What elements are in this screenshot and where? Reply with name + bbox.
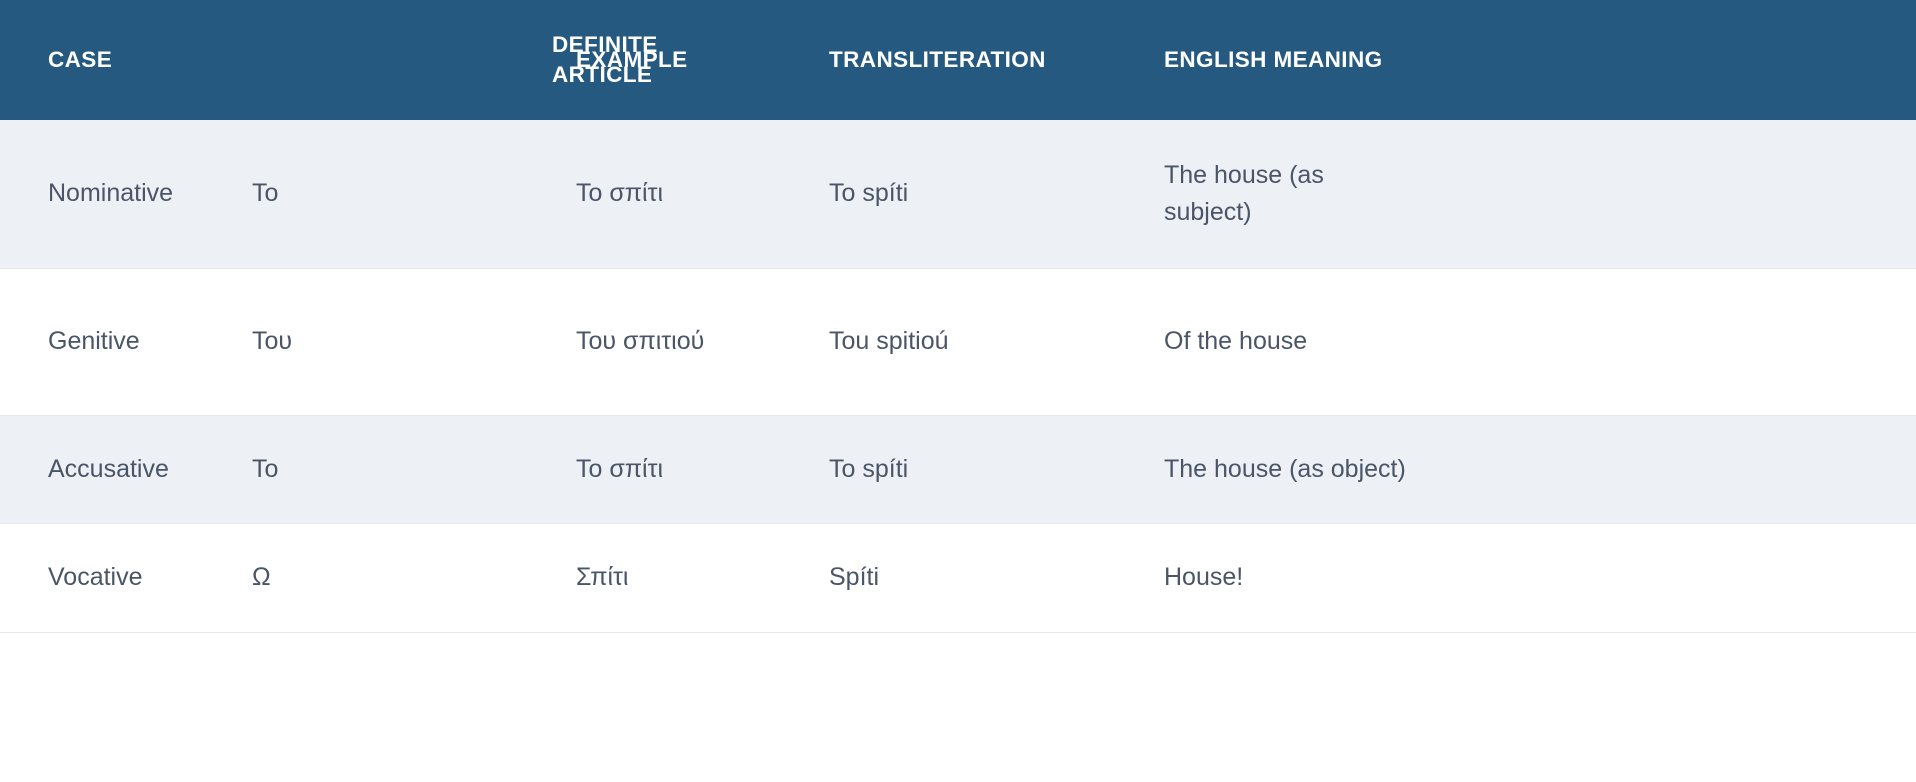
cell-english-meaning: The house (as object) <box>1164 415 1916 523</box>
cell-definite-article: Το <box>252 120 576 268</box>
cell-transliteration: Spíti <box>829 523 1164 632</box>
cell-english-meaning: Of the house <box>1164 268 1916 415</box>
cell-example: Το σπίτι <box>576 415 829 523</box>
cell-definite-article: Του <box>252 268 576 415</box>
column-header-english-meaning[interactable]: ENGLISH MEANING <box>1164 0 1916 120</box>
greek-noun-cases-table: CASE DEFINITE ARTICLE EXAMPLE TRANSLITER… <box>0 0 1916 633</box>
column-header-definite-article[interactable]: DEFINITE ARTICLE <box>252 0 576 120</box>
cell-english-meaning: The house (as subject) <box>1164 120 1916 268</box>
table-header: CASE DEFINITE ARTICLE EXAMPLE TRANSLITER… <box>0 0 1916 120</box>
cell-case: Accusative <box>0 415 252 523</box>
cell-case: Vocative <box>0 523 252 632</box>
cell-transliteration: Tou spitioú <box>829 268 1164 415</box>
cell-example: Σπίτι <box>576 523 829 632</box>
table-row: Genitive Του Του σπιτιού Tou spitioú Of … <box>0 268 1916 415</box>
cell-transliteration: To spíti <box>829 120 1164 268</box>
cell-definite-article: Ω <box>252 523 576 632</box>
cell-case: Nominative <box>0 120 252 268</box>
cell-english-meaning: House! <box>1164 523 1916 632</box>
column-header-example[interactable]: EXAMPLE <box>576 0 829 120</box>
table-body: Nominative Το Το σπίτι To spíti The hous… <box>0 120 1916 632</box>
table-row: Nominative Το Το σπίτι To spíti The hous… <box>0 120 1916 268</box>
cell-definite-article: Το <box>252 415 576 523</box>
cell-example: Το σπίτι <box>576 120 829 268</box>
cell-case: Genitive <box>0 268 252 415</box>
cell-example: Του σπιτιού <box>576 268 829 415</box>
column-header-case[interactable]: CASE <box>0 0 252 120</box>
table-header-row: CASE DEFINITE ARTICLE EXAMPLE TRANSLITER… <box>0 0 1916 120</box>
cell-english-meaning-text: The house (as subject) <box>1164 157 1414 231</box>
table-bottom-space <box>0 633 1916 782</box>
table-container: CASE DEFINITE ARTICLE EXAMPLE TRANSLITER… <box>0 0 1916 782</box>
table-row: Vocative Ω Σπίτι Spíti House! <box>0 523 1916 632</box>
cell-transliteration: To spíti <box>829 415 1164 523</box>
column-header-transliteration[interactable]: TRANSLITERATION <box>829 0 1164 120</box>
cell-example-text: Του σπιτιού <box>576 323 766 360</box>
table-row: Accusative Το Το σπίτι To spíti The hous… <box>0 415 1916 523</box>
